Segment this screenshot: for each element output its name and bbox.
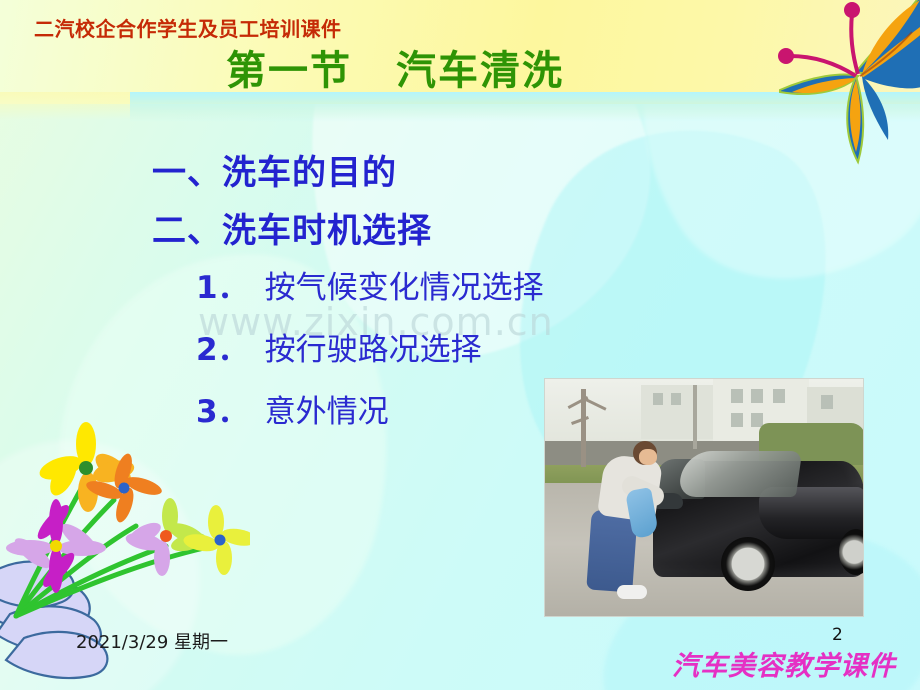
- outline-heading-1: 一、洗车的目的: [152, 145, 397, 194]
- slide-title: 第一节汽车清洗: [226, 38, 564, 96]
- presentation-slide: 二汽校企合作学生及员工培训课件 第一节汽车清洗 www.zixin.com.cn…: [0, 0, 920, 690]
- outline-item-1-label: 按气候变化情况选择: [265, 270, 544, 306]
- outline-heading-2: 二、洗车时机选择: [152, 203, 432, 252]
- outline-item-2-label: 按行驶路况选择: [265, 332, 482, 368]
- outline-item-3-label: 意外情况: [265, 394, 389, 430]
- car-washing-photo: [544, 378, 864, 617]
- slide-date: 2021/3/29 星期一: [76, 628, 228, 654]
- slide-title-section: 第一节: [226, 47, 352, 94]
- outline-item-2-number: 2．: [196, 332, 249, 368]
- outline-item-1: 1．按气候变化情况选择: [196, 262, 544, 307]
- outline-item-1-number: 1．: [196, 270, 249, 306]
- slide-page-number: 2: [832, 625, 843, 645]
- butterfly-icon: [744, 0, 920, 189]
- outline-item-2: 2．按行驶路况选择: [196, 324, 482, 369]
- footer-brand-text: 汽车美容教学课件: [672, 644, 896, 683]
- slide-title-topic: 汽车清洗: [396, 47, 564, 94]
